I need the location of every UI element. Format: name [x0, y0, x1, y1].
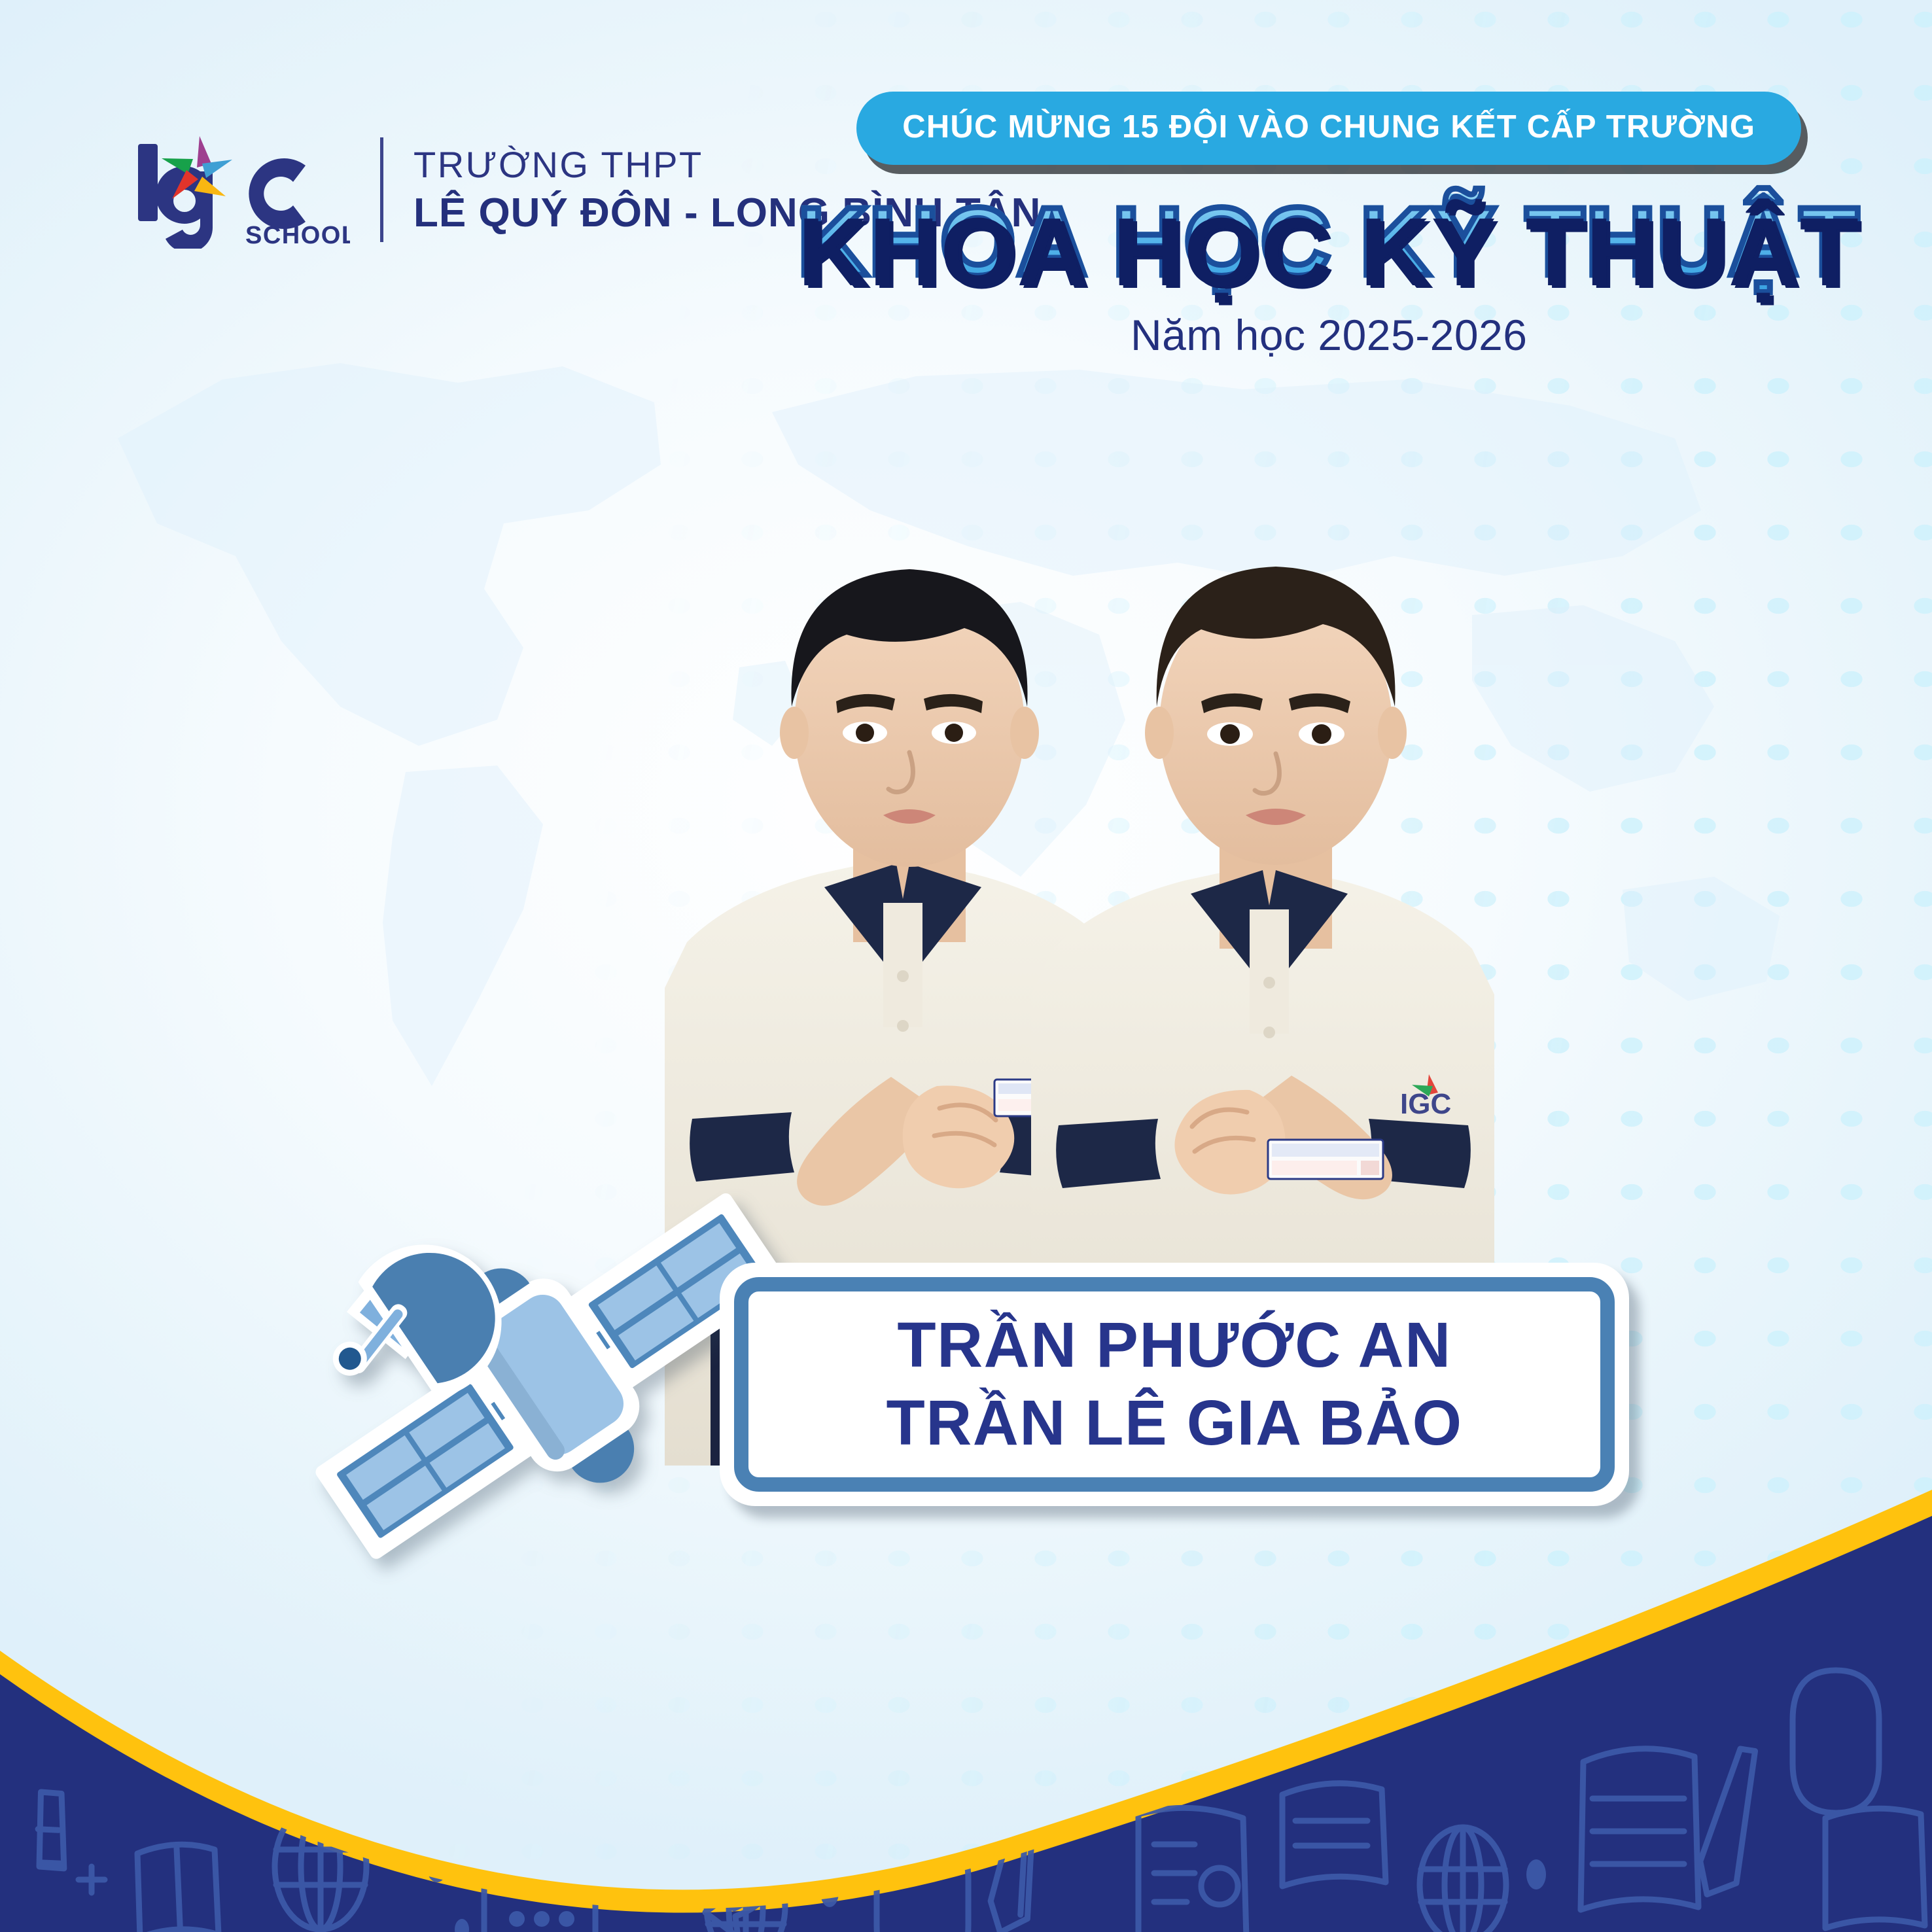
bottom-wave-decoration: [0, 1435, 1932, 1932]
logo-divider: [380, 137, 383, 242]
logo-subtext: SCHOOL: [245, 222, 350, 249]
school-year-label: Năm học 2025-2026: [1131, 310, 1528, 360]
event-header-block: CHÚC MỪNG 15 ĐỘI VÀO CHUNG KẾT CẤP TRƯỜN…: [798, 92, 1860, 360]
dot-decor: [1526, 1859, 1546, 1889]
student-right-name-badge: [1268, 1140, 1383, 1179]
event-title: KHOA HỌC KỸ THUẬT: [798, 194, 1860, 290]
congrats-banner: CHÚC MỪNG 15 ĐỘI VÀO CHUNG KẾT CẤP TRƯỜN…: [856, 92, 1801, 165]
student-name-1: TRẦN PHƯỚC AN: [897, 1308, 1451, 1382]
igc-logo-icon: SCHOOL: [134, 131, 350, 249]
